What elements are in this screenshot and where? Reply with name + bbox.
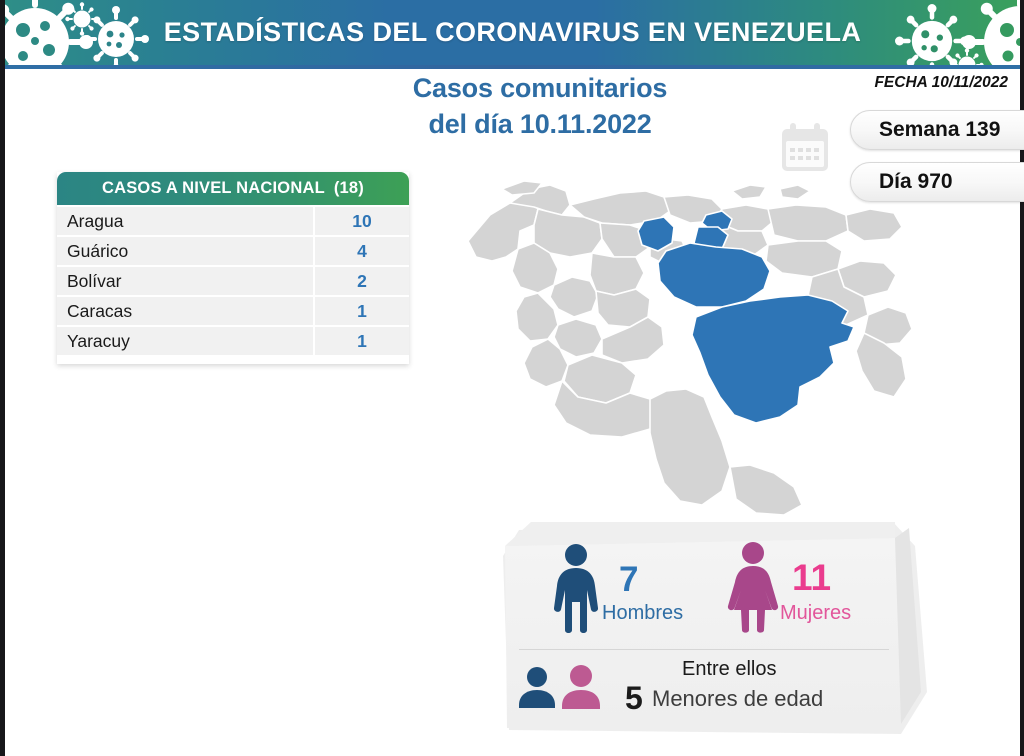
male-count: 7	[619, 560, 638, 600]
male-figure-icon	[549, 542, 603, 634]
map-state-highlighted	[692, 295, 854, 423]
page-title-line1: Casos comunitarios	[413, 73, 667, 103]
table-cell-state: Guárico	[57, 237, 313, 265]
page-title: Casos comunitarios del día 10.11.2022	[305, 70, 775, 142]
badge-semana-label: Semana 139	[879, 118, 1000, 142]
table-cell-value: 2	[315, 267, 409, 295]
minors-label: Menores de edad	[652, 686, 823, 712]
panel-divider	[519, 649, 889, 650]
table-header: CASOS A NIVEL NACIONAL (18)	[57, 172, 409, 205]
minors-count: 5	[625, 680, 643, 717]
table-cell-value: 1	[315, 297, 409, 325]
table-cell-state: Yaracuy	[57, 327, 313, 355]
minors-prefix-label: Entre ellos	[682, 658, 777, 681]
banner-underline	[5, 65, 1020, 69]
fecha-label: FECHA 10/11/2022	[874, 74, 1008, 92]
table-cell-value: 1	[315, 327, 409, 355]
table-cell-value: 4	[315, 237, 409, 265]
page-title-line2: del día 10.11.2022	[305, 106, 775, 142]
table-cell-value: 10	[315, 207, 409, 235]
map-state	[768, 205, 848, 241]
table-cell-state: Bolívar	[57, 267, 313, 295]
table-header-label: CASOS A NIVEL NACIONAL	[102, 179, 325, 198]
header-banner: ESTADÍSTICAS DEL CORONAVIRUS EN VENEZUEL…	[5, 0, 1020, 65]
map-island	[732, 185, 766, 199]
national-cases-table: CASOS A NIVEL NACIONAL (18) Aragua 10 Gu…	[57, 172, 409, 364]
female-count: 11	[792, 557, 831, 599]
table-row[interactable]: Yaracuy 1	[57, 327, 409, 355]
female-figure-icon	[725, 540, 781, 634]
two-person-bust-icon	[515, 664, 615, 710]
male-label: Hombres	[602, 602, 683, 625]
demographics-panel: 7 Hombres 11 Mujeres	[497, 512, 927, 737]
table-row[interactable]: Aragua 10	[57, 207, 409, 235]
table-header-count: (18)	[334, 179, 364, 198]
table-row[interactable]: Guárico 4	[57, 237, 409, 265]
map-island	[780, 185, 810, 199]
map-state	[846, 209, 902, 241]
map-state	[550, 277, 598, 317]
female-label: Mujeres	[780, 602, 851, 625]
banner-title: ESTADÍSTICAS DEL CORONAVIRUS EN VENEZUEL…	[5, 0, 1020, 65]
table-row[interactable]: Caracas 1	[57, 297, 409, 325]
map-state	[730, 465, 802, 515]
map-state	[650, 389, 730, 505]
table-row[interactable]: Bolívar 2	[57, 267, 409, 295]
table-cell-state: Aragua	[57, 207, 313, 235]
venezuela-map[interactable]	[450, 165, 920, 525]
infographic-page: ESTADÍSTICAS DEL CORONAVIRUS EN VENEZUEL…	[0, 0, 1024, 756]
table-cell-state: Caracas	[57, 297, 313, 325]
badge-semana[interactable]: Semana 139	[850, 110, 1024, 150]
